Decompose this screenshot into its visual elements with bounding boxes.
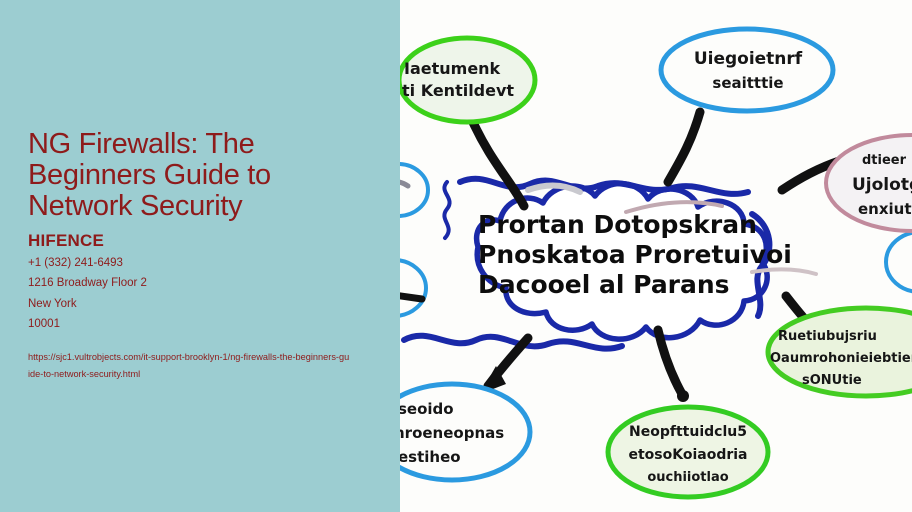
node-top-center-blue-line-1: Uiegoietnrf: [694, 49, 803, 69]
node-right-pink-line-3: enxiuti: [858, 200, 912, 218]
mind-map-canvas: Prortan Dotopskran Pnoskatoa Proretuivoi…: [400, 0, 912, 512]
node-bottom-left-blue-line-2: nroeneopnas: [400, 424, 504, 442]
node-bottom-left-blue-line-1: seoido: [400, 400, 454, 418]
node-bottom-left-blue-line-3: estiheo: [400, 448, 461, 466]
node-top-center-blue: [661, 29, 833, 111]
node-bottom-center-green-line-3: ouchiiotlao: [647, 470, 728, 485]
node-right-green-line-1: Ruetiubujsriu: [778, 329, 877, 344]
street-address: 1216 Broadway Floor 2: [28, 277, 372, 290]
brand-name: HIFENCE: [28, 231, 372, 251]
node-top-center-blue-line-2: seaitttie: [712, 74, 783, 92]
center-text-line-2: Pnoskatoa Proretuivoi: [478, 240, 792, 269]
node-bottom-center-green-line-2: etosoKoiaodria: [628, 447, 747, 463]
city-name: New York: [28, 298, 372, 311]
node-right-green-line-3: sONUtie: [802, 373, 862, 388]
connector-dot-bottom-center: [677, 390, 689, 402]
card-text-panel: NG Firewalls: The Beginners Guide to Net…: [0, 0, 400, 512]
node-right-pink-line-2: Ujolotgi1e: [852, 175, 912, 195]
mind-map-illustration: Prortan Dotopskran Pnoskatoa Proretuivoi…: [400, 0, 912, 512]
node-right-green-line-2: Oaumrohonieiebtien: [770, 351, 912, 366]
article-preview-card: NG Firewalls: The Beginners Guide to Net…: [0, 0, 912, 512]
node-bottom-center-green-line-1: Neopfttuidclu5: [629, 424, 747, 440]
node-top-left-green: [400, 38, 535, 122]
node-right-pink-line-1: dtieer: [862, 153, 907, 168]
page-title: NG Firewalls: The Beginners Guide to Net…: [28, 129, 358, 222]
center-text-line-1: Prortan Dotopskran: [478, 210, 757, 239]
center-text-line-3: Dacooel al Parans: [478, 270, 730, 299]
node-top-left-green-line-2: ti Kentildevt: [402, 81, 514, 100]
node-top-left-green-line-1: Iaetumenk: [404, 59, 501, 78]
phone-number: +1 (332) 241-6493: [28, 257, 372, 270]
postal-code: 10001: [28, 318, 372, 331]
source-url-link[interactable]: https://sjc1.vultrobjects.com/it-support…: [28, 349, 350, 383]
